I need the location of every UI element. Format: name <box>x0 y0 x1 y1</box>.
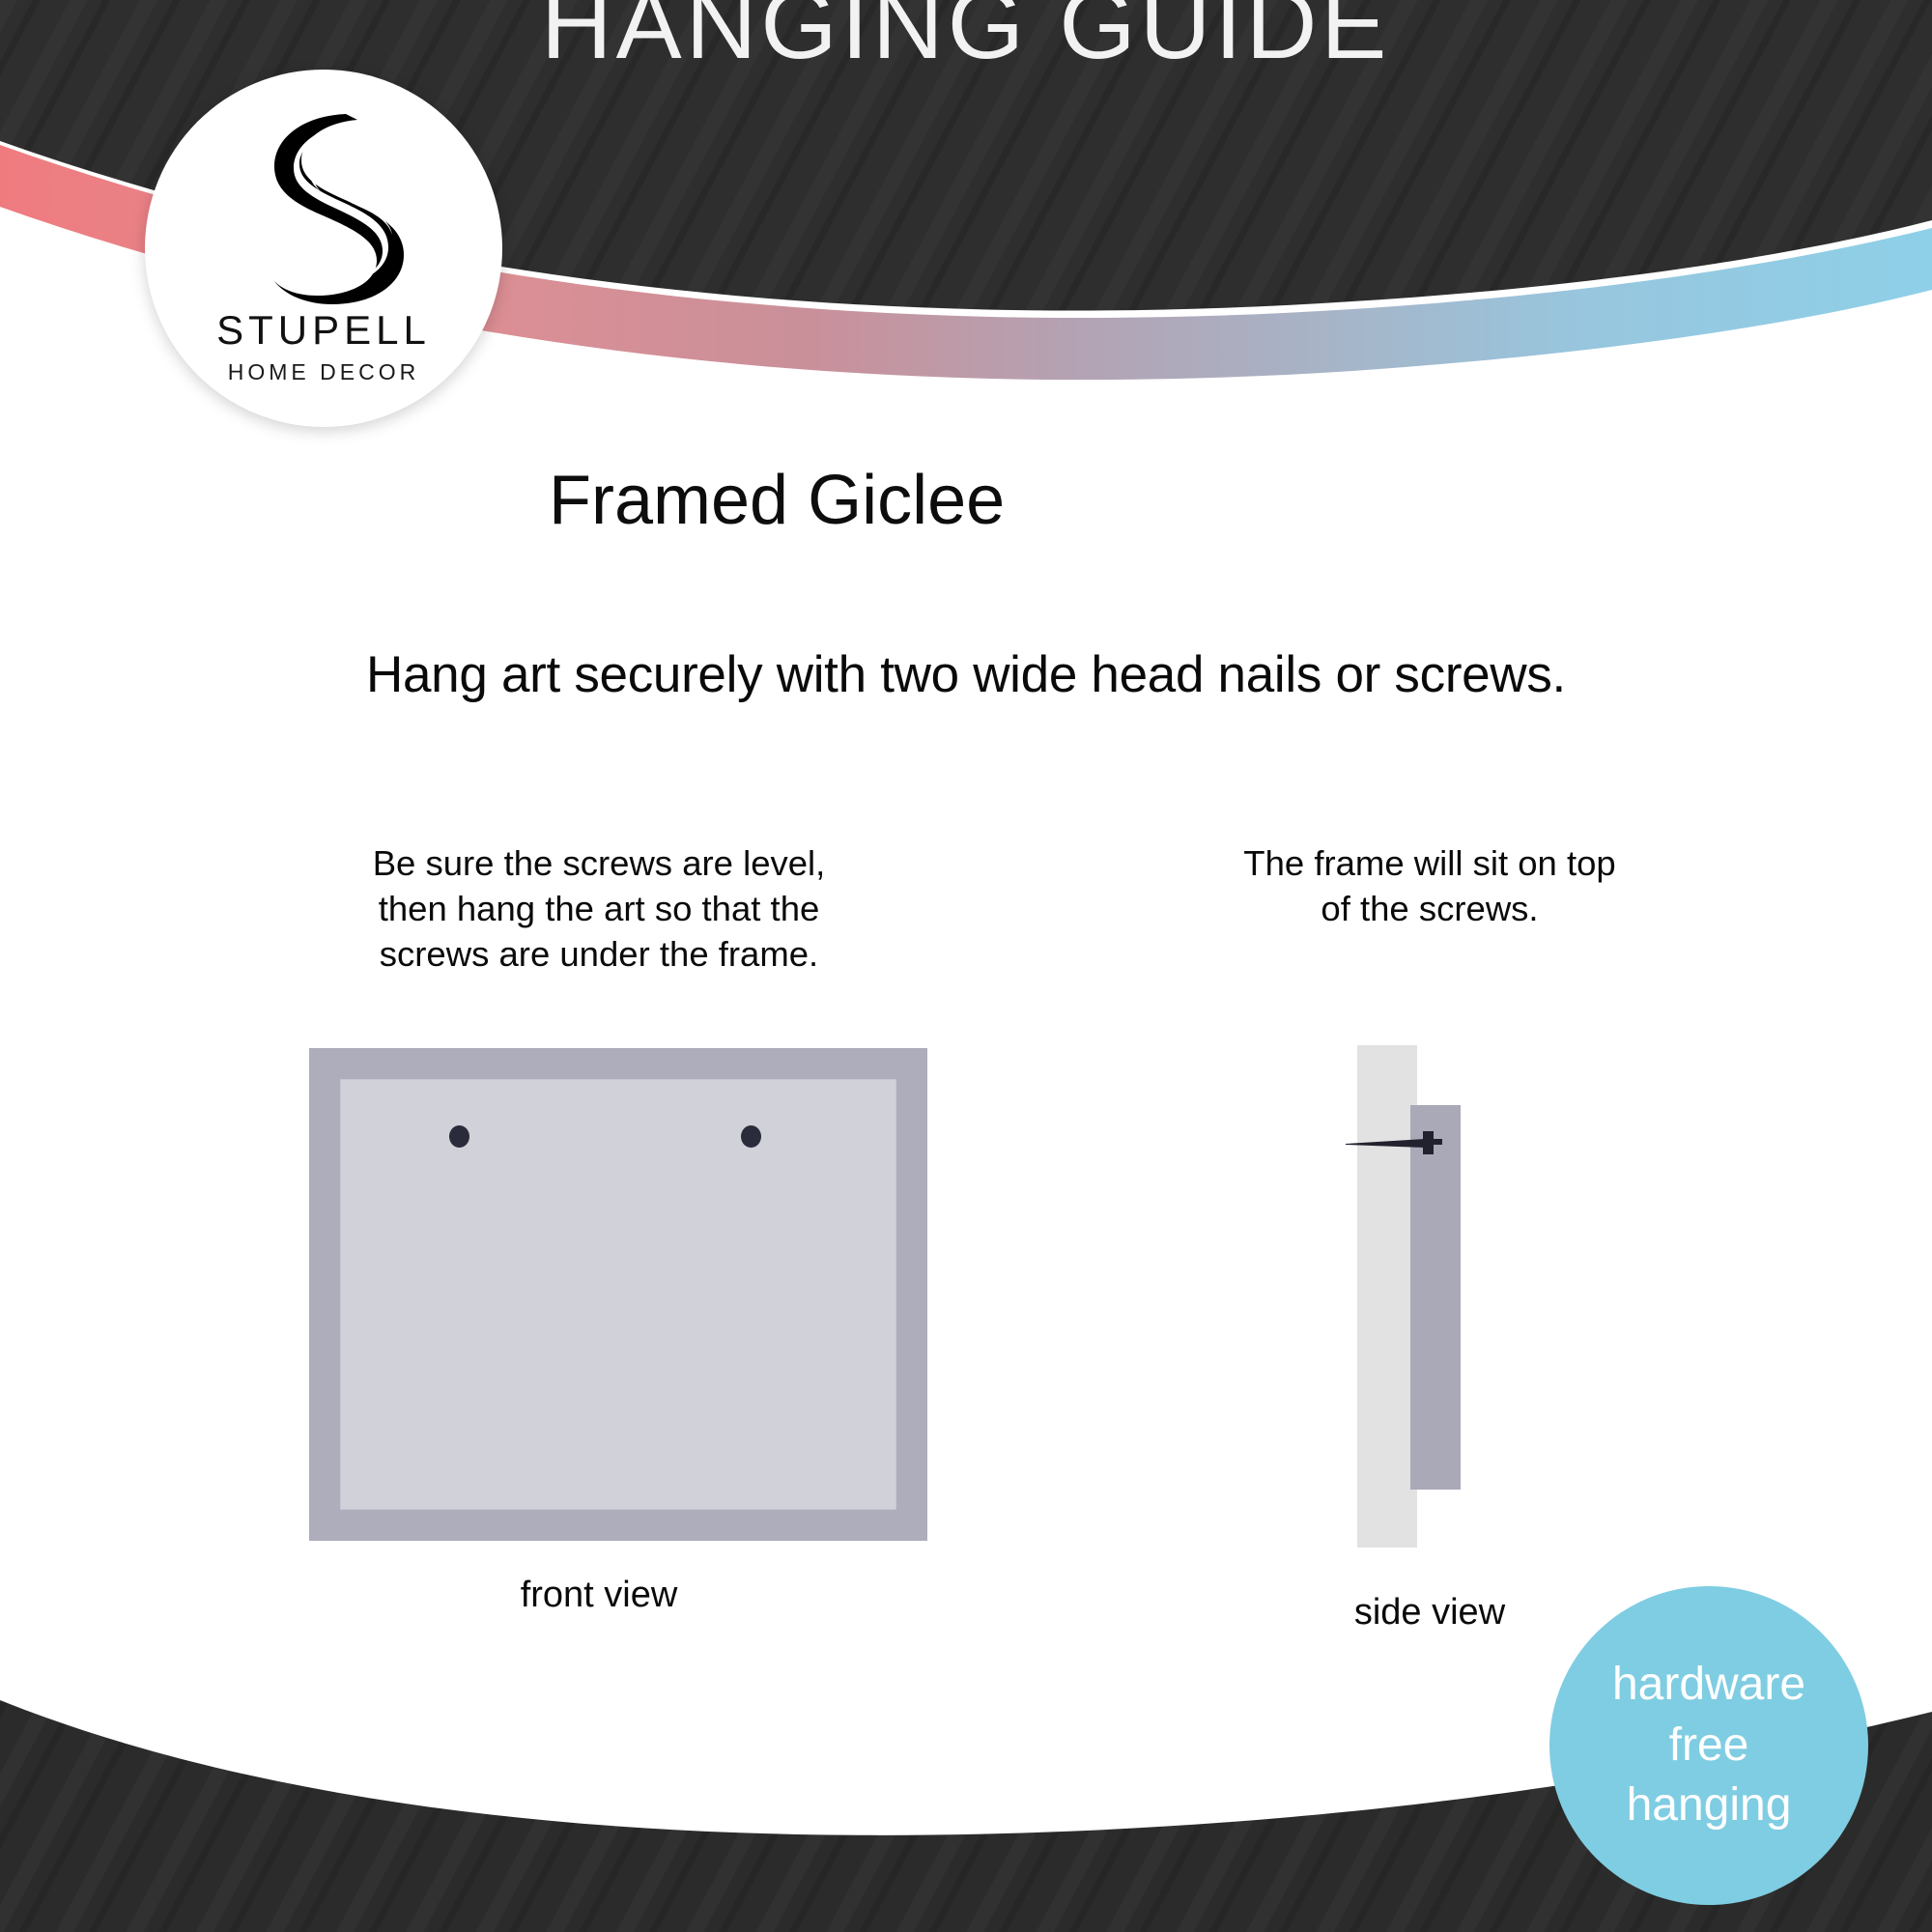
page-title-text: HANGING GUIDE <box>541 0 1390 79</box>
stupell-swoosh-icon <box>232 106 415 304</box>
hardware-free-hanging-badge: hardware free hanging <box>1549 1586 1868 1905</box>
side-caption-line-1: The frame will sit on top <box>1063 840 1797 886</box>
diagram-section: Be sure the screws are level, then hang … <box>0 840 1932 1671</box>
front-view-caption: Be sure the screws are level, then hang … <box>232 840 966 977</box>
front-caption-line-2: then hang the art so that the <box>232 886 966 931</box>
frame-inner-panel <box>340 1079 896 1510</box>
lead-instruction: Hang art securely with two wide head nai… <box>0 649 1932 700</box>
front-view-label: front view <box>232 1575 966 1616</box>
badge-line-1: hardware <box>1612 1655 1805 1715</box>
side-view-caption: The frame will sit on top of the screws. <box>1063 840 1797 931</box>
front-caption-line-1: Be sure the screws are level, <box>232 840 966 886</box>
badge-line-2: free <box>1669 1716 1749 1776</box>
hanging-guide-poster: STUPELL HOME DECOR HANGING GUIDE Framed … <box>0 0 1932 1932</box>
screw-dot-left-icon <box>449 1125 469 1148</box>
front-view-frame-illustration <box>309 1048 927 1541</box>
wall-strip <box>1357 1045 1417 1548</box>
badge-line-3: hanging <box>1627 1776 1792 1835</box>
brand-logo-badge: STUPELL HOME DECOR <box>145 70 502 427</box>
side-view-illustration <box>1357 1045 1541 1548</box>
product-type-label: Framed Giclee <box>549 466 1005 535</box>
front-caption-line-3: screws are under the frame. <box>232 931 966 977</box>
logo-wordmark: STUPELL <box>216 310 431 351</box>
front-view-column: Be sure the screws are level, then hang … <box>232 840 966 977</box>
side-caption-line-2: of the screws. <box>1063 886 1797 931</box>
logo-subwordmark: HOME DECOR <box>228 361 419 384</box>
frame-edge-strip <box>1410 1105 1461 1490</box>
screw-dot-right-icon <box>741 1125 761 1148</box>
page-title: HANGING GUIDE <box>541 58 1835 270</box>
side-view-column: The frame will sit on top of the screws.… <box>1063 840 1797 931</box>
nail-icon <box>1344 1128 1460 1157</box>
